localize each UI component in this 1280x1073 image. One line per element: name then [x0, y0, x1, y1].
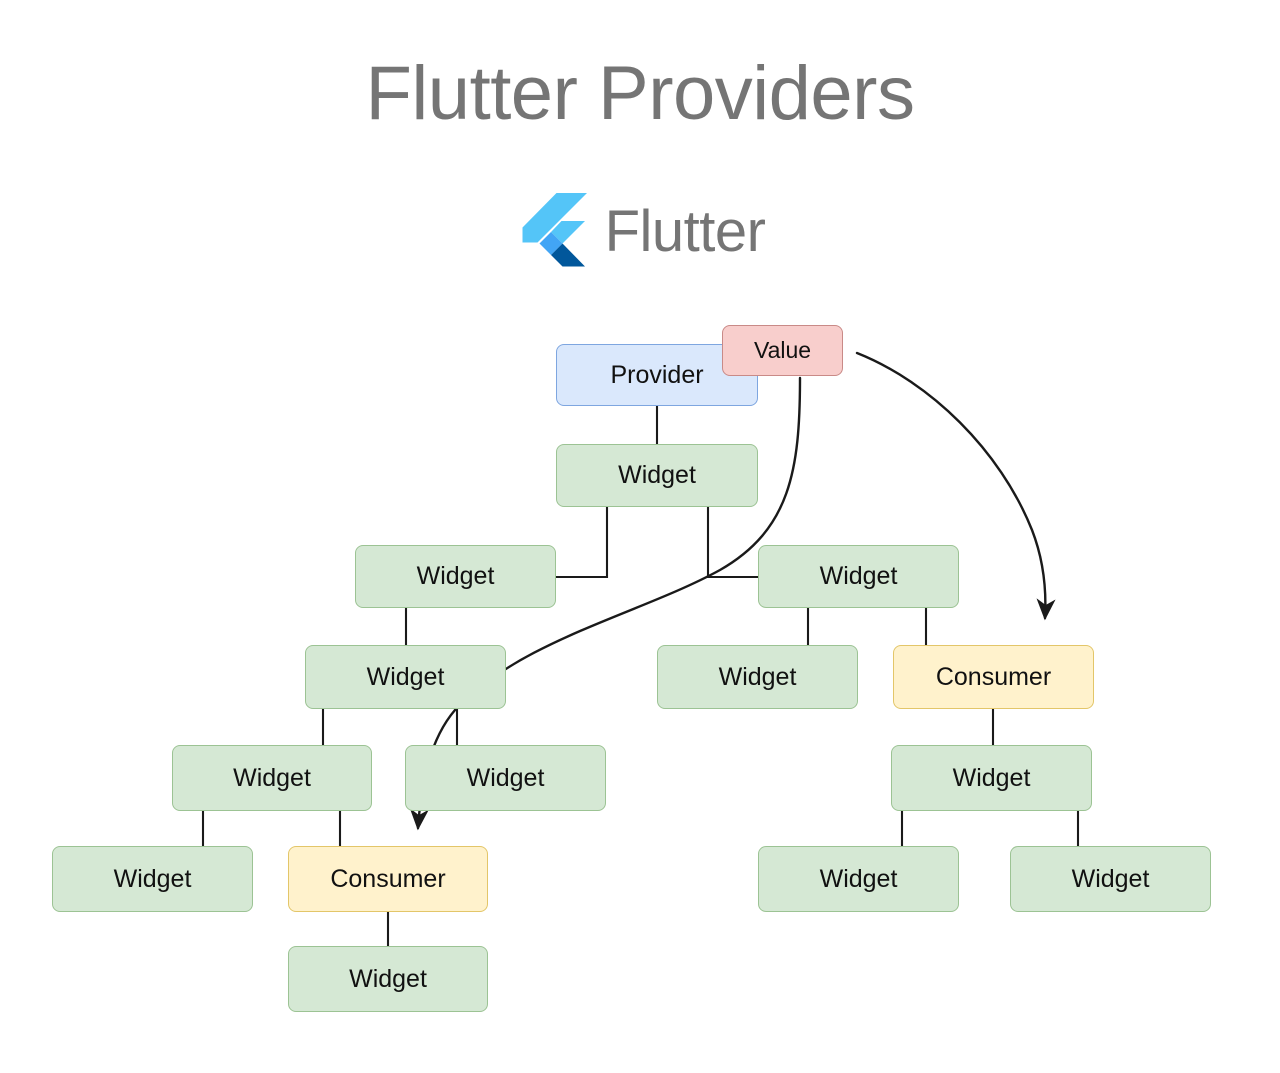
widget-tree-diagram: Provider Value Widget Widget Widget Widg…	[0, 0, 1280, 1073]
node-widget-right-3[interactable]: Widget	[891, 745, 1092, 811]
node-label: Widget	[953, 766, 1031, 791]
node-label: Widget	[349, 967, 427, 992]
node-label: Widget	[820, 867, 898, 892]
node-widget-left-5[interactable]: Widget	[288, 946, 488, 1012]
node-label: Provider	[610, 363, 703, 388]
node-consumer-right[interactable]: Consumer	[893, 645, 1094, 709]
node-widget-left-2[interactable]: Widget	[305, 645, 506, 709]
node-label: Widget	[367, 665, 445, 690]
node-label: Consumer	[330, 867, 445, 892]
node-widget-left-3b[interactable]: Widget	[405, 745, 606, 811]
node-widget-left-3a[interactable]: Widget	[172, 745, 372, 811]
node-label: Widget	[820, 564, 898, 589]
node-widget-left-1[interactable]: Widget	[355, 545, 556, 608]
node-label: Widget	[417, 564, 495, 589]
edge-layer	[0, 0, 1280, 1073]
node-widget-right-2[interactable]: Widget	[657, 645, 858, 709]
node-label: Widget	[618, 463, 696, 488]
node-widget-left-4[interactable]: Widget	[52, 846, 253, 912]
node-label: Widget	[719, 665, 797, 690]
node-widget-right-1[interactable]: Widget	[758, 545, 959, 608]
node-widget-root[interactable]: Widget	[556, 444, 758, 507]
edge-widget-to-right-widget	[708, 507, 758, 577]
node-widget-right-4b[interactable]: Widget	[1010, 846, 1211, 912]
node-value[interactable]: Value	[722, 325, 843, 376]
node-label: Consumer	[936, 665, 1051, 690]
node-label: Widget	[1072, 867, 1150, 892]
node-label: Widget	[233, 766, 311, 791]
edge-widget-to-left-widget	[556, 507, 607, 577]
node-consumer-left[interactable]: Consumer	[288, 846, 488, 912]
node-label: Widget	[467, 766, 545, 791]
node-widget-right-4a[interactable]: Widget	[758, 846, 959, 912]
node-label: Widget	[114, 867, 192, 892]
node-label: Value	[754, 339, 811, 362]
